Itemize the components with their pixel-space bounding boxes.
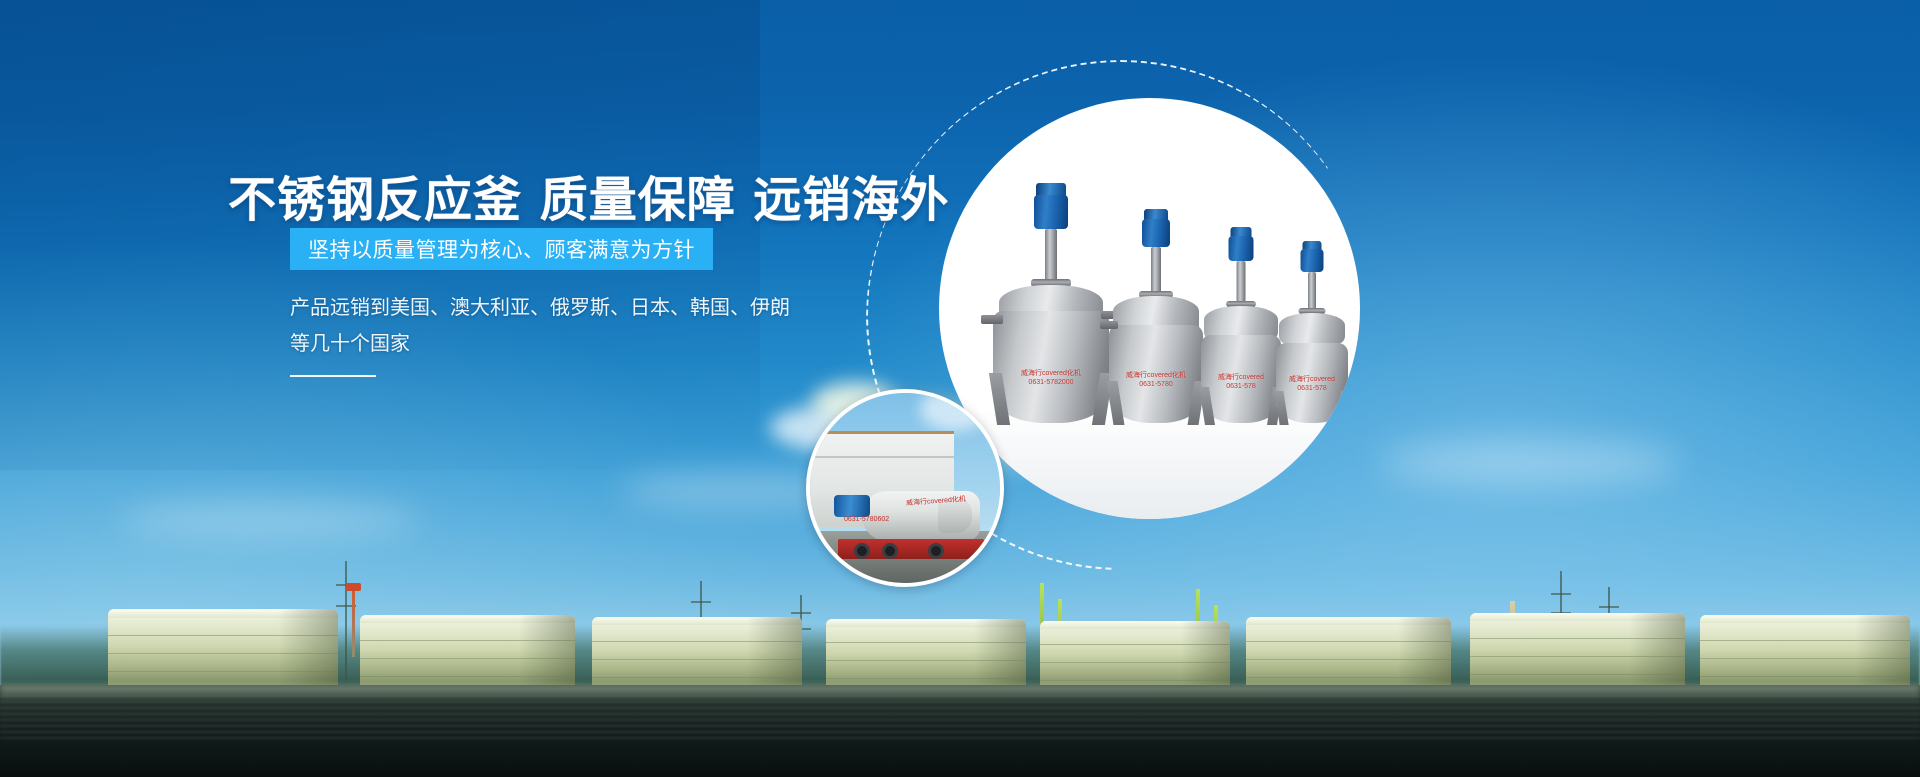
banner-subtitle-text: 坚持以质量管理为核心、顾客满意为方针 [308, 234, 695, 264]
product-label-line2: 0631-5782000 [1028, 379, 1073, 386]
paragraph-line-2: 等几十个国家 [290, 326, 810, 362]
banner-headline: 不锈钢反应釜 质量保障 远销海外 [228, 160, 949, 230]
product-label-line1: 威海行covered化机 [1126, 372, 1186, 379]
horizontal-rule-divider [290, 375, 376, 377]
product-label-line2: 0631-578 [1297, 385, 1327, 392]
reactor-vessel: 威海行covered化机 0631-5782000 [987, 183, 1115, 423]
hero-banner: 威海行covered化机 0631-5782000 威海行covered化机 0… [0, 0, 1920, 777]
banner-paragraph: 产品远销到美国、澳大利亚、俄罗斯、日本、韩国、伊朗 等几十个国家 [290, 290, 810, 362]
product-label-line1: 威海行covered [1218, 374, 1264, 381]
paragraph-line-1: 产品远销到美国、澳大利亚、俄罗斯、日本、韩国、伊朗 [290, 297, 790, 319]
banner-subtitle-highlight: 坚持以质量管理为核心、顾客满意为方针 [290, 228, 713, 270]
banner-copy-block: 不锈钢反应釜 质量保障 远销海外 坚持以质量管理为核心、顾客满意为方针 产品远销… [0, 0, 860, 777]
product-circle-main: 威海行covered化机 0631-5782000 威海行covered化机 0… [939, 98, 1360, 519]
reactor-vessel: 威海行covered 0631-578 [1273, 241, 1351, 423]
inset-wheel [882, 543, 898, 559]
product-label-line2: 0631-5780 [1139, 381, 1172, 388]
inset-smoke [920, 389, 990, 431]
product-label-line2: 0631-578 [1226, 383, 1256, 390]
inset-wheel [928, 543, 944, 559]
reactor-vessel: 威海行covered化机 0631-5780 [1105, 209, 1207, 423]
product-label-line1: 威海行covered化机 [1021, 370, 1081, 377]
product-label-line1: 威海行covered [1289, 376, 1335, 383]
reactor-vessel: 威海行covered 0631-578 [1197, 227, 1285, 423]
